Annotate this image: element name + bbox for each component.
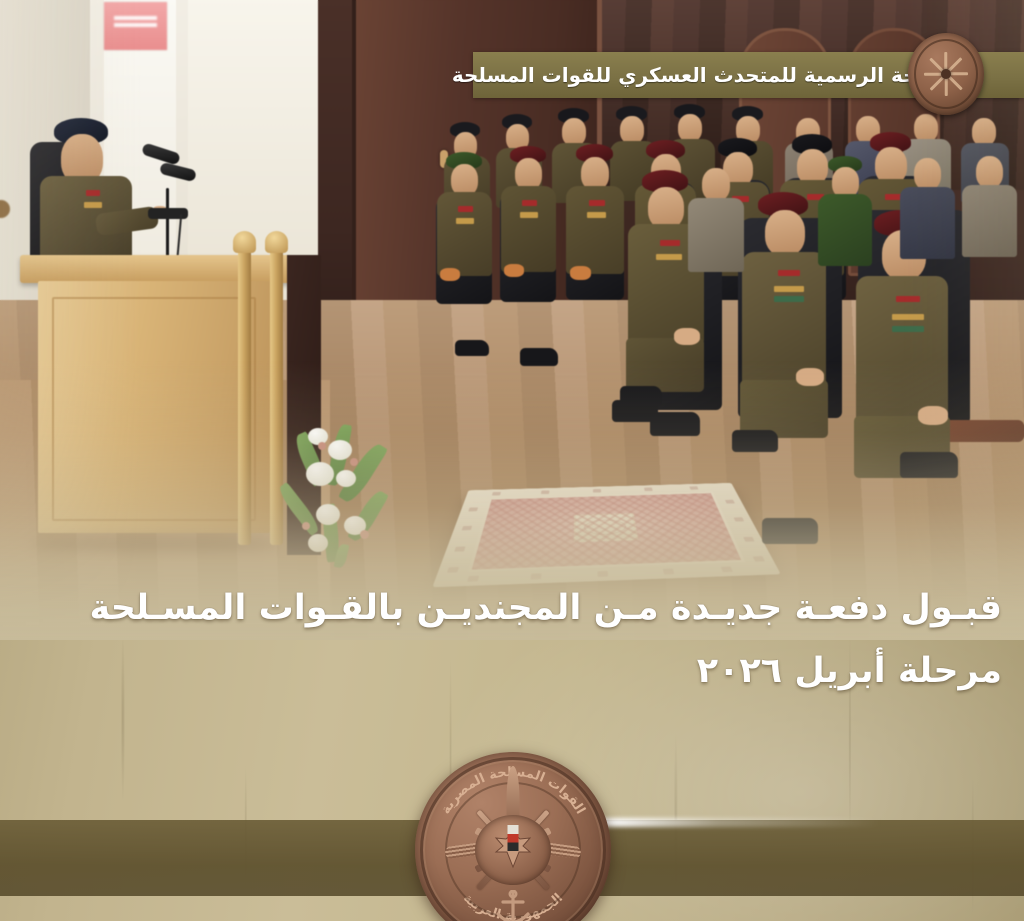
banner-title: الصفحة الرسمية للمتحدث العسكري للقوات ال… [452, 65, 966, 85]
armed-forces-seal-icon [908, 33, 984, 115]
caption-line-1: قبـول دفعـة جديـدة مـن المجنديـن بالقـوا… [22, 588, 1002, 629]
seal-center [941, 69, 951, 79]
emblem-anchor-icon [493, 890, 533, 921]
egyptian-armed-forces-emblem-icon: القوات المسلحة المصرية الجمهورية العربية [415, 752, 611, 921]
announcement-card: الصفحة الرسمية للمتحدث العسكري للقوات ال… [0, 0, 1024, 921]
announcement-caption: قبـول دفعـة جديـدة مـن المجنديـن بالقـوا… [0, 588, 1024, 693]
caption-line-2: مرحلة أبريل ٢٠٢٦ [22, 651, 1002, 692]
emblem-flag [508, 825, 519, 851]
